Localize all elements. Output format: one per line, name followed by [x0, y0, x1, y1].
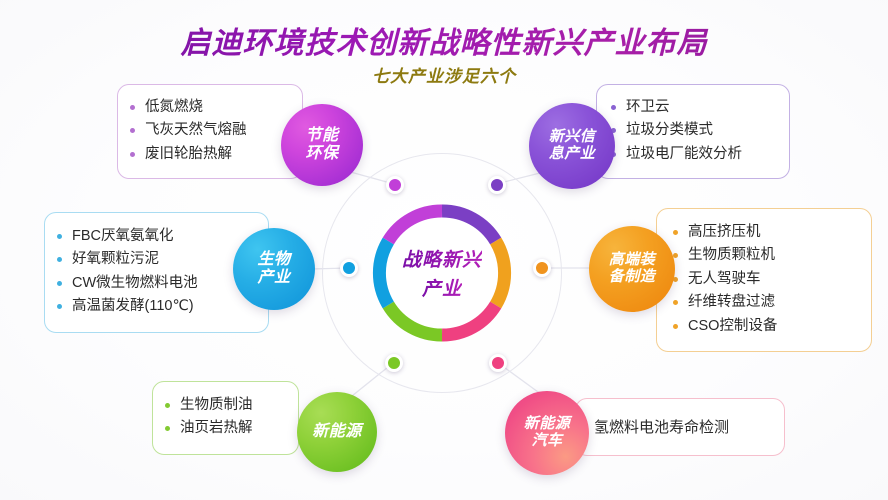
box-xinnengyuan-qiche: 氢燃料电池寿命检测 — [575, 398, 785, 456]
bubble-label-line: 高端装 — [609, 252, 656, 269]
list-item: FBC厌氧氨氧化 — [55, 225, 258, 248]
center-hub: 战略新兴 产业 — [367, 198, 517, 348]
bubble-gaoduan-zhuangbei[interactable]: 高端装 备制造 — [589, 226, 675, 312]
list-item: 纤维转盘过滤 — [671, 291, 861, 314]
node-jieneng[interactable] — [386, 176, 404, 194]
list-item: 高压挤压机 — [671, 221, 861, 244]
list-item: 生物质颗粒机 — [671, 244, 861, 267]
bubble-xinxing-xinxi[interactable]: 新兴信 息产业 — [529, 103, 615, 189]
bubble-label-line: 息产业 — [549, 146, 596, 163]
list-item: 垃圾电厂能效分析 — [609, 143, 779, 166]
infographic-canvas: 启迪环境技术创新战略性新兴产业布局 七大产业涉足六个 — [0, 0, 888, 500]
list-item: CW微生物燃料电池 — [55, 272, 258, 295]
bubble-label-line: 环保 — [305, 145, 338, 163]
list-item: 飞灰天然气熔融 — [128, 119, 290, 142]
node-xinxi[interactable] — [488, 176, 506, 194]
node-shengwu[interactable] — [340, 259, 358, 277]
box-jieneng-huanbao: 低氮燃烧 飞灰天然气熔融 废旧轮胎热解 — [117, 84, 303, 179]
bubble-label-line: 备制造 — [609, 269, 656, 286]
list-item: 油页岩热解 — [163, 417, 288, 440]
bubble-label-line: 汽车 — [531, 433, 562, 450]
list-item: 垃圾分类模式 — [609, 119, 779, 142]
list-item: 废旧轮胎热解 — [128, 143, 290, 166]
bubble-shengwu-chanye[interactable]: 生物 产业 — [233, 228, 315, 310]
list-item: 生物质制油 — [163, 394, 288, 417]
node-xinnengyuan[interactable] — [385, 354, 403, 372]
list-item: 氢燃料电池寿命检测 — [594, 416, 774, 437]
node-qiche[interactable] — [489, 354, 507, 372]
box-xinnengyuan: 生物质制油 油页岩热解 — [152, 381, 299, 455]
bubble-label-line: 新能源 — [524, 416, 571, 433]
page-title: 启迪环境技术创新战略性新兴产业布局 — [0, 18, 888, 62]
bubble-label-line: 产业 — [257, 269, 290, 287]
box-xinxing-xinxi: 环卫云 垃圾分类模式 垃圾电厂能效分析 — [596, 84, 790, 179]
bubble-label-line: 生物 — [257, 251, 290, 269]
box-gaoduan-zhuangbei: 高压挤压机 生物质颗粒机 无人驾驶车 纤维转盘过滤 CSO控制设备 — [656, 208, 872, 352]
bubble-label-line: 节能 — [305, 127, 338, 145]
list-item: 高温菌发酵(110℃) — [55, 295, 258, 318]
bubble-xinnengyuan[interactable]: 新能源 — [297, 392, 377, 472]
list-item: 无人驾驶车 — [671, 268, 861, 291]
list-item: 低氮燃烧 — [128, 96, 290, 119]
list-item: 好氧颗粒污泥 — [55, 248, 258, 271]
list-item: CSO控制设备 — [671, 315, 861, 338]
node-gaoduan[interactable] — [533, 259, 551, 277]
bubble-jieneng-huanbao[interactable]: 节能 环保 — [281, 104, 363, 186]
bubble-label-line: 新能源 — [312, 423, 362, 441]
list-item: 环卫云 — [609, 96, 779, 119]
bubble-xinnengyuan-qiche[interactable]: 新能源 汽车 — [505, 391, 589, 475]
bubble-label-line: 新兴信 — [549, 129, 596, 146]
